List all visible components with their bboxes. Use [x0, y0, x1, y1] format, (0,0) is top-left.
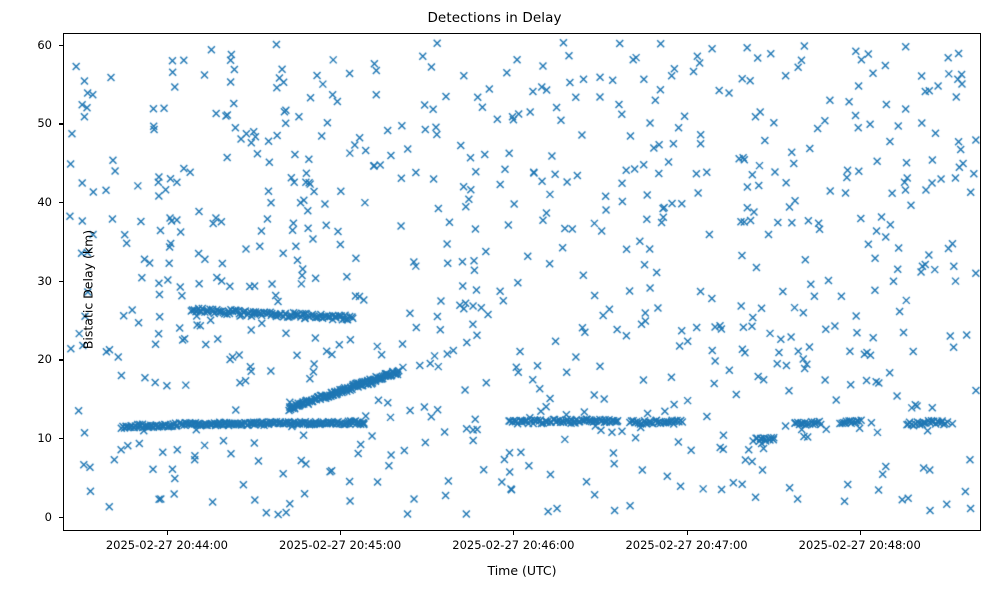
y-tick-mark — [59, 359, 63, 360]
y-axis-label: Bistatic Delay (km) — [81, 160, 96, 420]
x-tick-label: 2025-02-27 20:46:00 — [452, 538, 574, 552]
x-axis-label: Time (UTC) — [63, 563, 981, 578]
y-tick-mark — [59, 45, 63, 46]
y-tick-label: 0 — [10, 510, 52, 524]
y-tick-mark — [59, 438, 63, 439]
y-tick-label: 40 — [10, 195, 52, 209]
y-tick-label: 60 — [10, 38, 52, 52]
x-tick-label: 2025-02-27 20:48:00 — [799, 538, 921, 552]
x-tick-mark — [513, 531, 514, 535]
chart-title: Detections in Delay — [0, 10, 989, 26]
y-tick-mark — [59, 517, 63, 518]
y-tick-mark — [59, 202, 63, 203]
y-tick-label: 50 — [10, 116, 52, 130]
x-tick-label: 2025-02-27 20:44:00 — [106, 538, 228, 552]
chart-figure: Detections in Delay 0102030405060 2025-0… — [0, 0, 989, 590]
y-tick-mark — [59, 281, 63, 282]
x-tick-mark — [687, 531, 688, 535]
y-tick-label: 30 — [10, 274, 52, 288]
scatter-points-layer — [64, 34, 981, 531]
y-tick-mark — [59, 123, 63, 124]
x-tick-mark — [860, 531, 861, 535]
x-tick-label: 2025-02-27 20:45:00 — [279, 538, 401, 552]
y-tick-label: 20 — [10, 352, 52, 366]
plot-area — [63, 33, 981, 531]
x-tick-mark — [167, 531, 168, 535]
x-tick-mark — [340, 531, 341, 535]
x-tick-label: 2025-02-27 20:47:00 — [625, 538, 747, 552]
y-tick-label: 10 — [10, 431, 52, 445]
